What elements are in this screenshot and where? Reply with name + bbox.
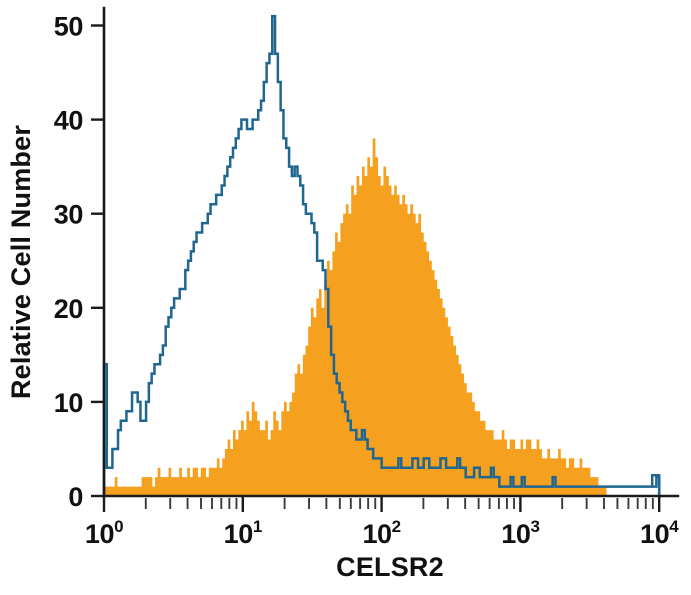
y-axis-tick-label: 0 bbox=[68, 482, 83, 512]
x-axis-tick-label: 101 bbox=[224, 517, 262, 549]
histogram-plot: 01020304050100101102103104CELSR2Relative… bbox=[0, 0, 691, 595]
series-layer bbox=[104, 16, 659, 496]
x-axis-title: CELSR2 bbox=[336, 552, 444, 582]
x-axis-tick-label: 102 bbox=[362, 517, 400, 549]
y-axis-tick-label: 40 bbox=[54, 106, 83, 136]
y-axis-tick-label: 50 bbox=[54, 12, 83, 42]
x-axis-tick-label: 104 bbox=[640, 517, 679, 549]
flow-cytometry-figure: 01020304050100101102103104CELSR2Relative… bbox=[0, 0, 691, 595]
x-axis-tick-label: 103 bbox=[501, 517, 539, 549]
y-axis-tick-label: 10 bbox=[54, 388, 83, 418]
x-axis-tick-label: 100 bbox=[85, 517, 123, 549]
y-axis-tick-label: 20 bbox=[54, 294, 83, 324]
histogram-filled-series bbox=[104, 138, 606, 496]
y-axis-title: Relative Cell Number bbox=[6, 125, 36, 399]
y-axis-tick-label: 30 bbox=[54, 200, 83, 230]
